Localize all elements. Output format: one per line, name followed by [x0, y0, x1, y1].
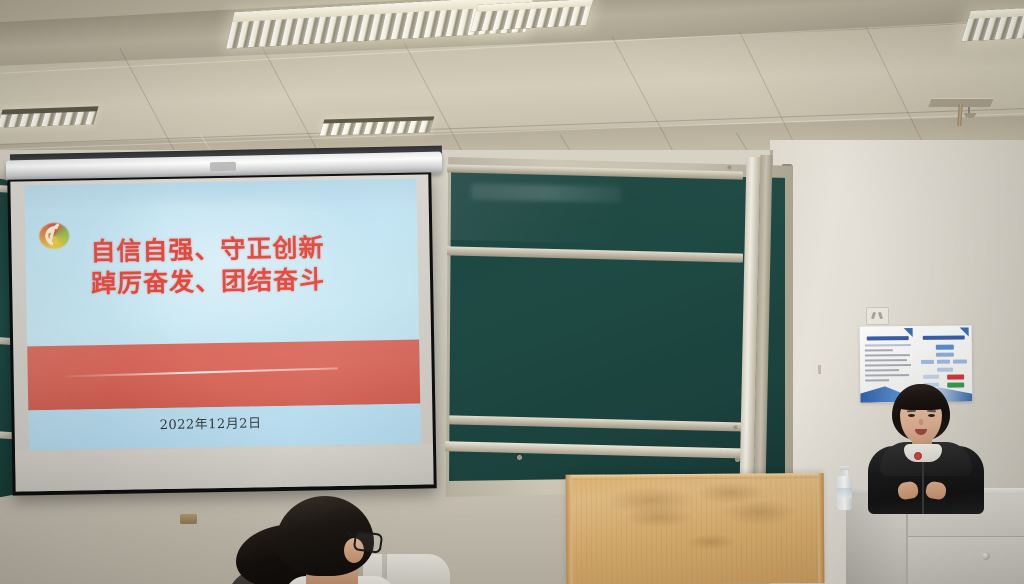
audience-member-with-glasses [262, 496, 388, 584]
podium-right-edge [818, 473, 825, 583]
presenter-eye [928, 414, 935, 417]
ceiling-light-fixture [320, 116, 435, 135]
flow-node [936, 353, 954, 357]
outlet-slot-right [878, 312, 883, 320]
poster-heading-bar [923, 335, 965, 339]
poster-text-line [865, 379, 889, 381]
poster-text-line [865, 359, 907, 361]
presenter-nose [919, 419, 923, 425]
podium-left-edge [566, 475, 573, 584]
presenter-eye [908, 414, 915, 417]
poster-text-line [865, 369, 899, 371]
mount-rod [957, 104, 963, 126]
ceiling-light-fixture [0, 106, 99, 128]
wall-mark [818, 365, 821, 374]
podium-wood-grain [566, 473, 825, 584]
flow-node [937, 360, 950, 364]
chalkboard-glare [448, 170, 749, 246]
flow-node [923, 375, 939, 379]
poster-text-line [865, 374, 909, 376]
chalkboard-screw [727, 165, 732, 170]
presenter-coat-zipper [922, 462, 924, 514]
classroom-photo: 自信自强、守正创新 踔厉奋发、团结奋斗 2022年12月2日 [0, 0, 1024, 584]
wall-power-outlet[interactable] [866, 307, 889, 325]
slide-title-line-2: 踔厉奋发、团结奋斗 [12, 263, 404, 302]
screen-wall-latch [180, 514, 197, 524]
ceiling-light-fixture [961, 5, 1024, 42]
chalkboard-screw [733, 425, 738, 430]
poster-text-line [865, 349, 893, 351]
flow-node [921, 360, 934, 364]
screen-surface: 自信自强、守正创新 踔厉奋发、团结奋斗 2022年12月2日 [10, 174, 433, 491]
flow-node [936, 345, 954, 350]
presenter-lapel-mic-icon [914, 452, 922, 460]
chalkboard [443, 157, 793, 497]
poster-text-line [865, 354, 910, 356]
slide-title: 自信自强、守正创新 踔厉奋发、团结奋斗 [11, 231, 404, 302]
chalkboard-screw [517, 455, 522, 460]
flow-node [953, 359, 967, 363]
screen-unprojected-area [15, 444, 434, 491]
ceiling-projector-mount [930, 98, 994, 126]
wooden-podium [566, 473, 825, 584]
flow-node-alert [947, 374, 964, 379]
audience-glasses-icon [346, 532, 380, 550]
outlet-slot-left [871, 312, 876, 320]
chalkboard-screw [735, 457, 740, 462]
presenter-at-lectern [862, 384, 998, 514]
poster-text-line [865, 364, 911, 366]
glasses-lens [353, 530, 384, 554]
presenter-collar [904, 444, 942, 462]
pull-down-projection-screen[interactable]: 自信自强、守正创新 踔厉奋发、团结奋斗 2022年12月2日 [7, 172, 436, 495]
screen-roller-bracket [210, 162, 236, 171]
poster-heading-bar [867, 336, 909, 340]
poster-rule [865, 344, 911, 346]
bottle-label [837, 488, 852, 498]
flow-node [937, 368, 953, 372]
water-bottle [837, 466, 852, 510]
